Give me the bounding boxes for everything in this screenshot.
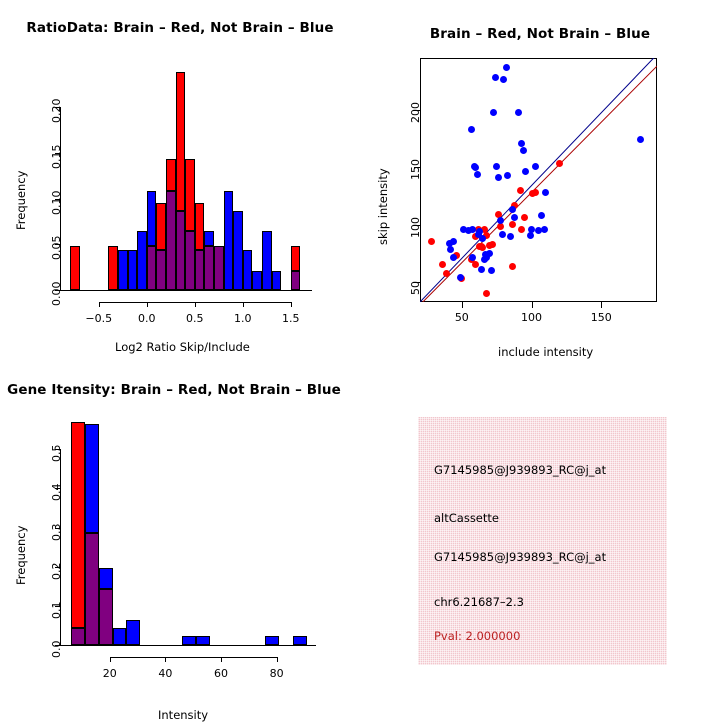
ratio-x-tick-label: 0.5 xyxy=(186,312,204,325)
histogram-bar-brain xyxy=(156,203,166,250)
scatter-point xyxy=(504,172,511,179)
ratio-x-tick xyxy=(195,302,196,307)
scatter-x-tick xyxy=(462,302,463,308)
histogram-bar-overlap xyxy=(85,533,99,645)
histogram-bar-overlap xyxy=(291,271,301,290)
gene-y-tick-label: 0.2 xyxy=(50,562,63,580)
gene-x-tick xyxy=(165,657,166,662)
scatter-point xyxy=(428,238,435,245)
histogram-bar-not-brain xyxy=(118,250,128,290)
scatter-point xyxy=(532,189,539,196)
scatter-point xyxy=(469,254,476,261)
histogram-bar-not-brain xyxy=(252,271,262,290)
histogram-bar-not-brain xyxy=(85,424,99,533)
scatter-x-tick-label: 100 xyxy=(521,311,542,324)
gene-x-tick xyxy=(110,657,111,662)
info-event-type: altCassette xyxy=(434,511,499,525)
scatter-point xyxy=(492,74,499,81)
histogram-bar-brain xyxy=(166,159,176,191)
scatter-point xyxy=(468,126,475,133)
scatter-points xyxy=(420,58,657,302)
scatter-point xyxy=(489,241,496,248)
scatter-point xyxy=(509,221,516,228)
scatter-point xyxy=(637,136,644,143)
scatter-point xyxy=(515,109,522,116)
scatter-point xyxy=(532,163,539,170)
scatter-point xyxy=(472,164,479,171)
scatter-point xyxy=(500,76,507,83)
gene-intensity-panel: Gene Itensity: Brain – Red, Not Brain – … xyxy=(0,360,360,720)
scatter-point xyxy=(488,267,495,274)
gene-y-tick-label: 0.5 xyxy=(50,445,63,463)
gene-y-tick-label: 0.1 xyxy=(50,601,63,619)
gene-info-panel: G7145985@J939893_RC@j_at altCassette G71… xyxy=(418,417,667,665)
scatter-point xyxy=(522,168,529,175)
histogram-bar-brain xyxy=(70,246,80,290)
gene-y-tick-label: 0.3 xyxy=(50,523,63,541)
scatter-point xyxy=(503,64,510,71)
scatter-point xyxy=(509,206,516,213)
histogram-bar-not-brain xyxy=(196,636,210,645)
scatter-y-tick-label: 150 xyxy=(409,159,422,180)
gene-y-tick-label: 0.4 xyxy=(50,484,63,502)
scatter-y-tick-label: 50 xyxy=(409,281,422,295)
histogram-bar-not-brain xyxy=(272,271,282,290)
histogram-bar-brain xyxy=(185,159,195,230)
histogram-bar-overlap xyxy=(166,191,176,290)
scatter-point xyxy=(483,290,490,297)
scatter-point xyxy=(495,174,502,181)
scatter-point xyxy=(497,217,504,224)
histogram-bar-not-brain xyxy=(243,250,253,290)
ratio-x-tick xyxy=(147,302,148,307)
histogram-bar-not-brain xyxy=(233,211,243,290)
gene-x-tick-label: 20 xyxy=(103,667,117,680)
ratio-histogram-panel: RatioData: Brain – Red, Not Brain – Blue… xyxy=(0,0,360,360)
scatter-point xyxy=(450,254,457,261)
histogram-bar-not-brain xyxy=(137,231,147,290)
histogram-bar-not-brain xyxy=(293,636,307,645)
scatter-x-tick-label: 150 xyxy=(591,311,612,324)
scatter-point xyxy=(556,160,563,167)
gene-x-tick-label: 60 xyxy=(214,667,228,680)
ratio-y-tick-label: 0.05 xyxy=(50,236,63,261)
scatter-point xyxy=(486,250,493,257)
histogram-bar-not-brain xyxy=(126,620,140,645)
ratio-y-tick-label: 0.10 xyxy=(50,190,63,215)
histogram-bar-overlap xyxy=(176,211,186,290)
histogram-bar-not-brain xyxy=(265,636,279,645)
gene-baseline xyxy=(60,645,316,646)
scatter-y-tick-label: 100 xyxy=(409,217,422,238)
scatter-x-tick-label: 50 xyxy=(455,311,469,324)
scatter-point xyxy=(479,235,486,242)
histogram-bar-overlap xyxy=(185,231,195,290)
info-pval: Pval: 2.000000 xyxy=(434,629,520,643)
scatter-point xyxy=(521,214,528,221)
histogram-bar-overlap xyxy=(147,246,157,290)
gene-x-tick-label: 80 xyxy=(270,667,284,680)
ratio-y-tick-label: 0.15 xyxy=(50,144,63,169)
ratio-x-tick xyxy=(99,302,100,307)
ratio-x-tick-label: 0.0 xyxy=(138,312,156,325)
histogram-bar-brain xyxy=(176,72,186,211)
gene-x-tick-label: 40 xyxy=(158,667,172,680)
scatter-point xyxy=(490,109,497,116)
scatter-point xyxy=(439,261,446,268)
ratio-x-tick xyxy=(243,302,244,307)
histogram-bar-not-brain xyxy=(262,231,272,290)
scatter-point xyxy=(474,171,481,178)
ratio-x-tick xyxy=(291,302,292,307)
histogram-bar-overlap xyxy=(99,589,113,645)
ratio-baseline xyxy=(60,290,312,291)
info-gene-id: G7145985@J939893_RC@j_at xyxy=(434,550,606,564)
ratio-plot-area: 0.000.050.100.150.20−0.50.00.51.01.5 xyxy=(0,0,360,360)
scatter-point xyxy=(443,270,450,277)
scatter-plot-area: 5010015020050100150 xyxy=(360,0,720,360)
gene-x-tick xyxy=(277,657,278,662)
gene-x-tick xyxy=(221,657,222,662)
scatter-point xyxy=(520,147,527,154)
histogram-bar-overlap xyxy=(195,250,205,290)
gene-x-axis xyxy=(110,657,278,658)
scatter-point xyxy=(538,212,545,219)
scatter-point xyxy=(541,226,548,233)
ratio-y-tick-label: 0.20 xyxy=(50,99,63,124)
scatter-point xyxy=(450,238,457,245)
histogram-bar-brain xyxy=(291,246,301,271)
gene-y-tick-label: 0.0 xyxy=(50,641,63,659)
histogram-bar-overlap xyxy=(71,628,85,645)
ratio-x-tick-label: 1.0 xyxy=(234,312,252,325)
scatter-point xyxy=(507,233,514,240)
scatter-point xyxy=(518,140,525,147)
histogram-bar-brain xyxy=(71,422,85,629)
ratio-x-tick-label: 1.5 xyxy=(282,312,300,325)
scatter-point xyxy=(478,266,485,273)
scatter-point xyxy=(518,226,525,233)
intensity-scatter-panel: Brain – Red, Not Brain – Blue skip inten… xyxy=(360,0,720,360)
histogram-bar-not-brain xyxy=(204,231,214,247)
histogram-bar-overlap xyxy=(214,246,224,290)
scatter-point xyxy=(447,246,454,253)
scatter-point xyxy=(528,226,535,233)
histogram-bar-not-brain xyxy=(113,628,127,645)
histogram-bar-not-brain xyxy=(224,191,234,290)
info-probeset-id: G7145985@J939893_RC@j_at xyxy=(434,463,606,477)
scatter-point xyxy=(517,187,524,194)
scatter-point xyxy=(509,263,516,270)
histogram-bar-not-brain xyxy=(99,568,113,589)
histogram-bar-not-brain xyxy=(147,191,157,246)
scatter-y-tick-label: 200 xyxy=(409,102,422,123)
histogram-bar-overlap xyxy=(156,250,166,290)
histogram-bar-brain xyxy=(108,246,118,290)
histogram-bar-brain xyxy=(195,203,205,250)
info-chromosome-locus: chr6.21687–2.3 xyxy=(434,595,524,609)
gene-plot-area: 0.00.10.20.30.40.520406080 xyxy=(0,360,360,720)
histogram-bar-not-brain xyxy=(182,636,196,645)
scatter-x-tick xyxy=(532,302,533,308)
histogram-bar-overlap xyxy=(204,246,214,290)
scatter-point xyxy=(511,214,518,221)
ratio-x-tick-label: −0.5 xyxy=(85,312,112,325)
scatter-point xyxy=(493,163,500,170)
scatter-x-tick xyxy=(601,302,602,308)
ratio-y-tick-label: 0.00 xyxy=(50,282,63,307)
scatter-point xyxy=(542,189,549,196)
histogram-bar-not-brain xyxy=(128,250,138,290)
scatter-point xyxy=(499,231,506,238)
